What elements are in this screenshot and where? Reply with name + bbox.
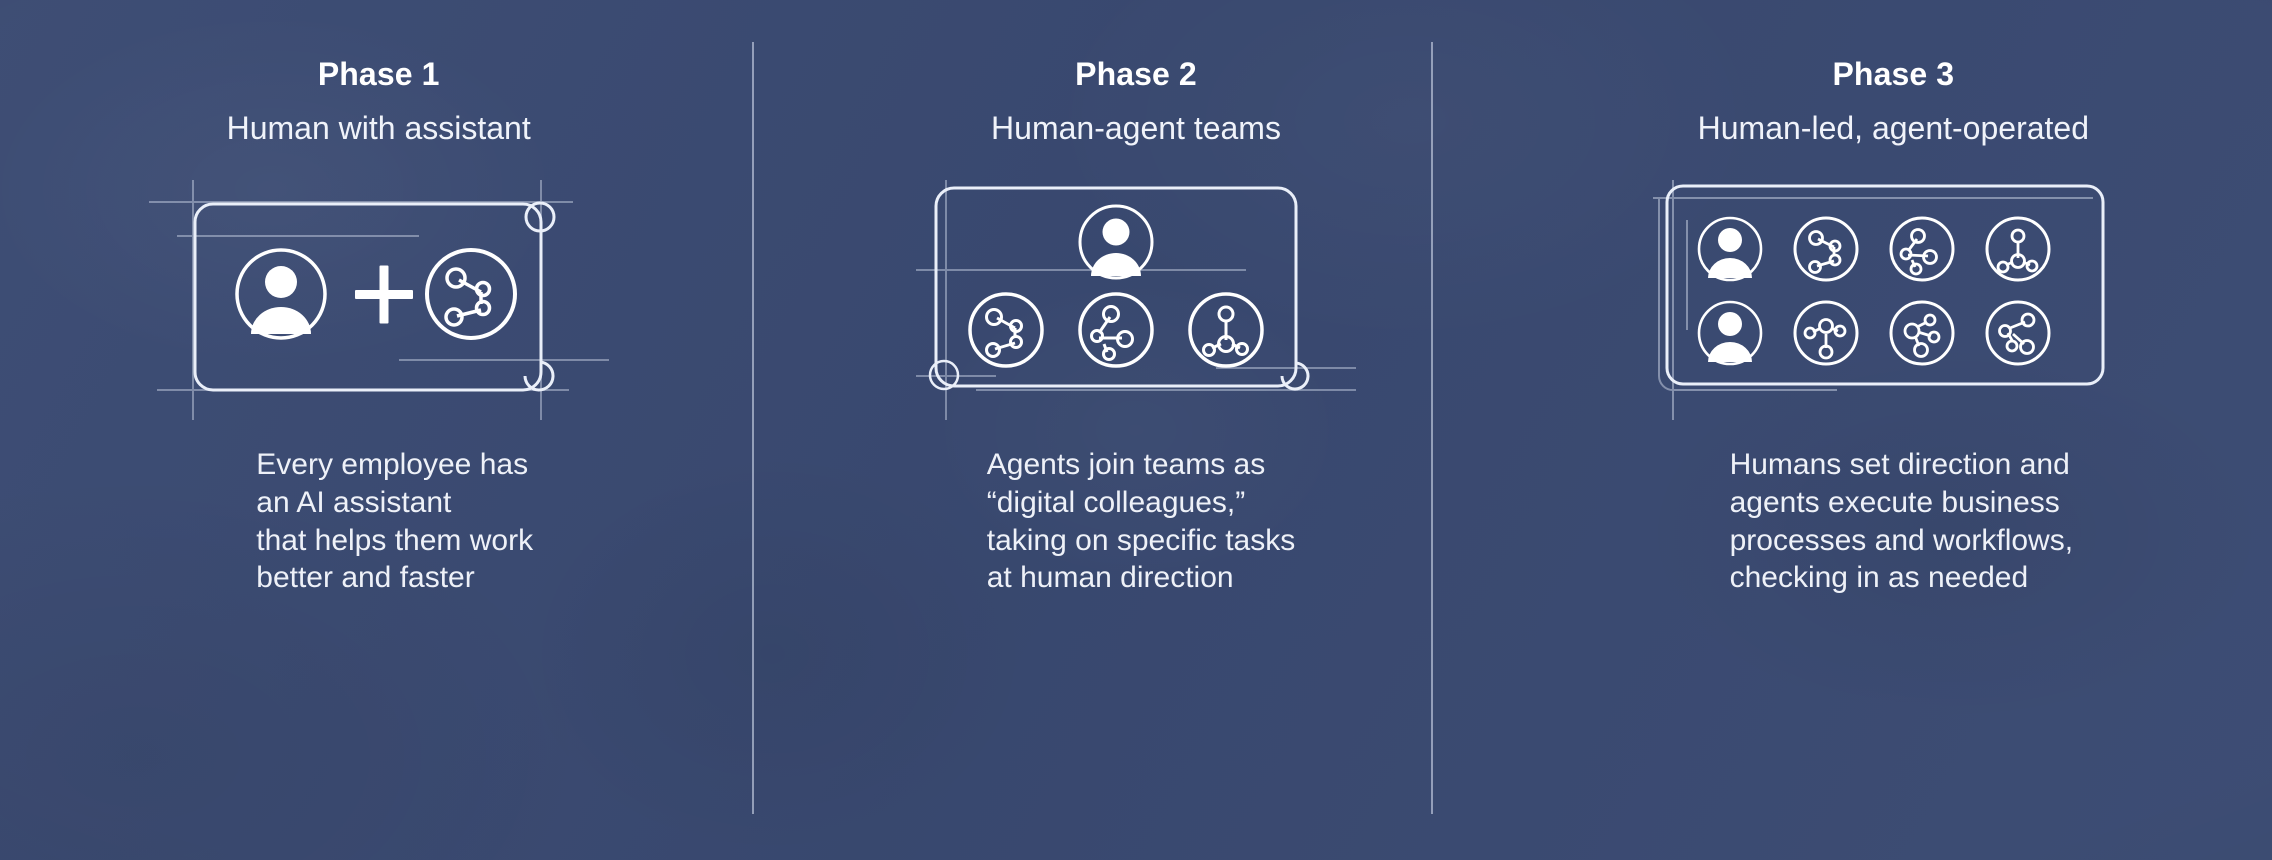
phase-3-subtitle: Human-led, agent-operated xyxy=(1698,112,2089,144)
phase-1-subtitle: Human with assistant xyxy=(227,112,531,144)
phase-column-1: Phase 1 Human with assistant xyxy=(0,0,757,860)
person-icon xyxy=(1699,218,1761,280)
column-divider-1 xyxy=(752,42,754,814)
phase-1-body: Every employee has an AI assistant that … xyxy=(256,446,533,597)
phase-1-diagram xyxy=(149,180,609,420)
corner-curl-icon xyxy=(525,362,553,390)
phase-3-title: Phase 3 xyxy=(1832,58,1954,90)
phase-1-title: Phase 1 xyxy=(318,58,440,90)
person-icon xyxy=(237,250,325,338)
phase-column-2: Phase 2 Human-agent teams xyxy=(757,0,1514,860)
agent-icon xyxy=(427,250,515,338)
agent-icon xyxy=(1795,302,1857,364)
agent-icon xyxy=(1891,218,1953,280)
phase-columns: Phase 1 Human with assistant xyxy=(0,0,2272,860)
agent-icon xyxy=(1080,294,1152,366)
phase-2-diagram xyxy=(916,180,1356,420)
plus-icon xyxy=(355,266,413,324)
person-icon xyxy=(1699,302,1761,364)
phase-3-graphic xyxy=(1515,180,2272,420)
agent-icon xyxy=(1190,294,1262,366)
phase-1-graphic xyxy=(0,180,757,420)
agent-icon xyxy=(1891,302,1953,364)
slide-canvas: Phase 1 Human with assistant xyxy=(0,0,2272,860)
phase-3-diagram xyxy=(1653,180,2133,420)
person-icon xyxy=(1080,206,1152,278)
phase-2-subtitle: Human-agent teams xyxy=(991,112,1281,144)
phase-2-graphic xyxy=(757,180,1514,420)
agent-icon xyxy=(1987,302,2049,364)
agent-icon xyxy=(1987,218,2049,280)
phase-column-3: Phase 3 Human-led, agent-operated xyxy=(1515,0,2272,860)
phase-2-body: Agents join teams as “digital colleagues… xyxy=(987,446,1295,597)
phase-2-title: Phase 2 xyxy=(1075,58,1197,90)
agent-icon xyxy=(1795,218,1857,280)
column-divider-2 xyxy=(1431,42,1433,814)
agent-icon xyxy=(970,294,1042,366)
phase-3-body: Humans set direction and agents execute … xyxy=(1730,446,2073,597)
